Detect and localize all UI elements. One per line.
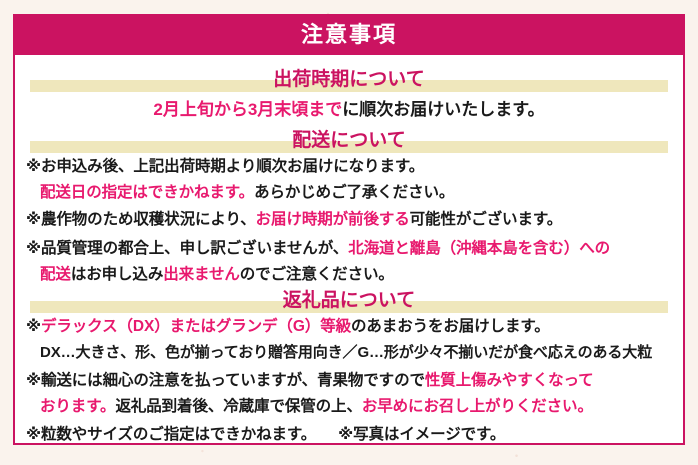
delivery-note-2-post: 可能性がございます。 <box>410 211 562 228</box>
shipping-period-lead: 2月上旬から3月末頃までに順次お届けいたします。 <box>15 101 683 118</box>
delivery-note-3-line-2: 配送はお申し込み出来ませんのでご注意ください。 <box>26 267 394 283</box>
storage-instruction: 返礼品到着後、冷蔵庫で保管の上、 <box>115 398 361 415</box>
gift-note-1-line-1: ※デラックス（DX）またはグランデ（G）等級のあまおうをお届けします。 <box>26 319 550 335</box>
delivery-note-1-text: ※お申込み後、上記出荷時期より順次お届けになります。 <box>26 158 424 175</box>
gift-note-2-pre: ※輸送には細心の注意を払っていますが、青果物ですので <box>26 372 425 389</box>
delivery-note-2: ※農作物のため収穫状況により、お届け時期が前後する可能性がございます。 <box>26 212 562 228</box>
shipping-period-range: 2月上旬から3月末頃まで <box>153 100 342 119</box>
notice-graphic: 注意事項 出荷時期について 2月上旬から3月末頃までに順次お届けいたします。 配… <box>0 0 698 465</box>
shipping-period-rest: に順次お届けいたします。 <box>342 100 544 119</box>
section-heading-label: 返礼品について <box>283 289 415 311</box>
delivery-date-warning: 配送日の指定はできかねます。 <box>40 184 254 201</box>
section-heading-delivery: 配送について <box>30 131 668 150</box>
page-title: 注意事項 <box>301 24 397 46</box>
notice-header-banner: 注意事項 <box>13 14 685 55</box>
gift-note-2-line-1: ※輸送には細心の注意を払っていますが、青果物ですので性質上傷みやすくなって <box>26 373 594 389</box>
delivery-note-3-mid: はお申し込み <box>71 266 163 283</box>
image-disclaimer: ※写真はイメージです。 <box>338 426 505 443</box>
section-heading-label: 配送について <box>292 129 405 151</box>
delivery-timing-warning: お届け時期が前後する <box>256 211 410 228</box>
perishable-warning: 性質上傷みやすくなって <box>425 372 594 389</box>
delivery-note-2-pre: ※農作物のため収穫状況により、 <box>26 211 256 228</box>
notice-body-box: 出荷時期について 2月上旬から3月末頃までに順次お届けいたします。 配送について… <box>13 55 685 445</box>
gift-grade-description: DX…大きさ、形、色が揃っており贈答用向き／G…形が少々不揃いだが食べ応えのある… <box>26 345 652 360</box>
gift-grade-description-text: DX…大きさ、形、色が揃っており贈答用向き／G…形が少々不揃いだが食べ応えのある… <box>40 344 652 361</box>
eat-soon-warning: お早めにお召し上がりください。 <box>362 398 593 415</box>
excluded-regions: 北海道と離島（沖縄本島を含む）への <box>348 240 610 257</box>
delivery-note-3-tail: のでご注意ください。 <box>240 266 394 283</box>
delivery-note-1-line-2: 配送日の指定はできかねます。あらかじめご了承ください。 <box>26 185 454 201</box>
delivery-note-3-pre: ※品質管理の都合上、申し訳ございませんが、 <box>26 240 348 257</box>
gift-note-2-line-2: おります。返礼品到着後、冷蔵庫で保管の上、お早めにお召し上がりください。 <box>26 399 593 415</box>
grade-names: デラックス（DX）またはグランデ（G）等級 <box>41 318 351 335</box>
delivery-note-3-line-1: ※品質管理の都合上、申し訳ございませんが、北海道と離島（沖縄本島を含む）への <box>26 241 610 257</box>
section-heading-shipping-period: 出荷時期について <box>30 70 668 89</box>
gift-note-1-post: のあまおうをお届けします。 <box>351 318 550 335</box>
not-available-word: 出来ません <box>163 266 240 283</box>
delivery-word: 配送 <box>40 266 71 283</box>
size-note: ※粒数やサイズのご指定はできかねます。 <box>26 426 316 443</box>
gift-note-3: ※粒数やサイズのご指定はできかねます。※写真はイメージです。 <box>26 427 505 443</box>
delivery-note-1-line-1: ※お申込み後、上記出荷時期より順次お届けになります。 <box>26 159 424 175</box>
perishable-warning-cont: おります。 <box>40 398 115 415</box>
delivery-note-1-tail: あらかじめご了承ください。 <box>254 184 454 201</box>
section-heading-gift: 返礼品について <box>30 291 668 310</box>
bullet-marker: ※ <box>26 318 41 335</box>
section-heading-label: 出荷時期について <box>273 68 424 90</box>
